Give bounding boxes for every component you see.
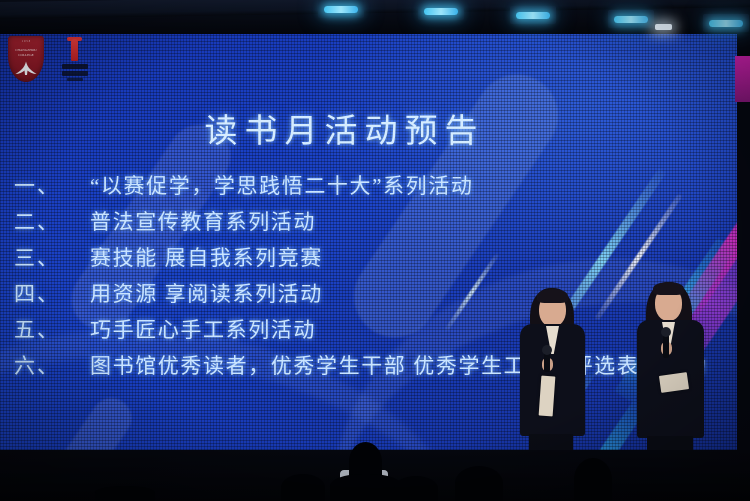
stage-light-5 xyxy=(703,14,749,32)
lamp-icon xyxy=(516,12,550,19)
microphone xyxy=(663,334,669,358)
item-number: 四、 xyxy=(14,276,90,312)
audience-head-4 xyxy=(455,466,503,501)
audience-head-2 xyxy=(281,474,325,501)
slide-title: 读书月活动预告 xyxy=(0,104,737,152)
stage-light-1 xyxy=(318,0,364,18)
audience-head-5 xyxy=(574,458,612,501)
item-text: 用资源 享阅读系列活动 xyxy=(90,276,323,312)
crest-year-text: 1 9 5 8 xyxy=(8,40,44,43)
slide-list-item-5: 五、 巧手匠心手工系列活动 xyxy=(0,312,737,348)
crest-name-line1: CHANGZHOU xyxy=(15,48,36,52)
item-text: 普法宣传教育系列活动 xyxy=(90,204,316,240)
event-logo-text-block-2 xyxy=(62,71,88,76)
stage-light-3 xyxy=(510,6,556,24)
stage-scene: 1 9 5 8 CHANGZHOU COLLEGE 读书月活动预告 一、 “以赛… xyxy=(0,0,750,501)
item-text: “以赛促学，学思践悟二十大”系列活动 xyxy=(90,168,473,204)
slide-list-item-3: 三、 赛技能 展自我系列竞赛 xyxy=(0,240,737,276)
audience-head-3 xyxy=(394,476,438,501)
item-number: 六、 xyxy=(14,348,90,384)
logo-group: 1 9 5 8 CHANGZHOU COLLEGE xyxy=(8,36,92,84)
event-logo xyxy=(58,36,92,84)
ceiling-truss xyxy=(0,0,750,34)
lamp-icon xyxy=(709,20,743,27)
lamp-icon xyxy=(324,6,358,13)
event-logo-text-block-3 xyxy=(67,78,83,81)
item-text: 赛技能 展自我系列竞赛 xyxy=(90,240,323,276)
wall-edge-magenta xyxy=(735,56,750,102)
item-number: 五、 xyxy=(14,312,90,348)
event-logo-text-block-1 xyxy=(62,64,88,69)
audience-body-6 xyxy=(95,486,155,501)
phoenix-bird-icon xyxy=(15,60,37,76)
hair-front xyxy=(653,282,684,295)
stage-light-2 xyxy=(418,2,464,20)
torch-body-icon xyxy=(71,39,78,61)
microphone-head xyxy=(542,345,552,355)
audience-body-1 xyxy=(330,474,402,501)
item-number: 三、 xyxy=(14,240,90,276)
item-text-block: 图书馆优秀读者，优秀学生干部 优秀学生工作者评选表彰活动 xyxy=(90,348,707,384)
lamp-icon xyxy=(424,8,458,15)
item-number: 一、 xyxy=(14,168,90,204)
slide-list-item-4: 四、 用资源 享阅读系列活动 xyxy=(0,276,737,312)
item-number: 二、 xyxy=(14,204,90,240)
hair-front xyxy=(537,289,568,303)
crest-name-line2: COLLEGE xyxy=(18,53,33,57)
spotlight-white xyxy=(655,24,672,30)
slide-list-item-6: 六、 图书馆优秀读者，优秀学生干部 优秀学生工作者评选表彰活动 xyxy=(0,348,737,384)
stage-light-4 xyxy=(608,10,654,28)
script-card xyxy=(539,376,556,417)
item-text-line1: 图书馆优秀读者，优秀学生干部 xyxy=(90,354,406,378)
slide-list-item-2: 二、 普法宣传教育系列活动 xyxy=(0,204,737,240)
slide-list-item-1: 一、 “以赛促学，学思践悟二十大”系列活动 xyxy=(0,168,737,204)
item-text: 巧手匠心手工系列活动 xyxy=(90,312,316,348)
slide-item-list: 一、 “以赛促学，学思践悟二十大”系列活动 二、 普法宣传教育系列活动 三、 赛… xyxy=(0,168,737,384)
university-crest-logo: 1 9 5 8 CHANGZHOU COLLEGE xyxy=(8,36,44,82)
microphone-head xyxy=(661,327,671,337)
lamp-icon xyxy=(614,16,648,23)
crest-name-text: CHANGZHOU COLLEGE xyxy=(8,48,44,57)
